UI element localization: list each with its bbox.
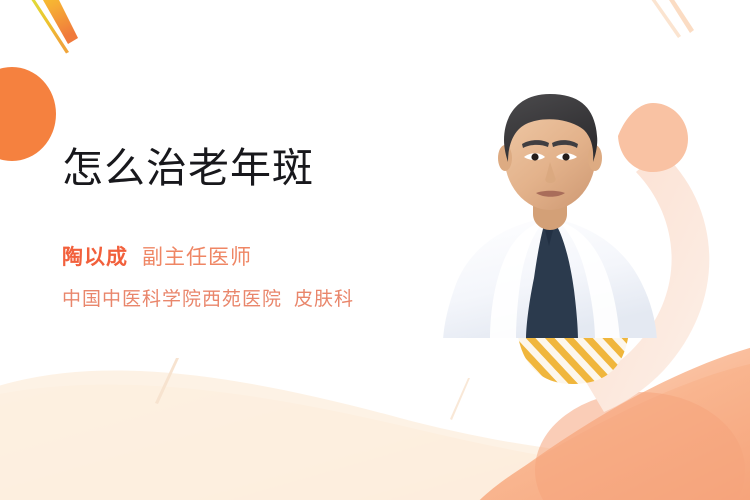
doctor-info-card: 怎么治老年斑 陶以成副主任医师 中国中医科学院西苑医院皮肤科 <box>0 0 750 500</box>
top-right-diagonal-stripe-a <box>664 0 694 33</box>
doctor-rank: 副主任医师 <box>142 246 252 269</box>
doctor-name: 陶以成 <box>62 246 128 269</box>
doctor-department: 皮肤科 <box>294 289 354 310</box>
page-title: 怎么治老年斑 <box>62 145 314 192</box>
doctor-pupil-left <box>531 153 538 160</box>
doctor-credential-line: 陶以成副主任医师 <box>62 246 252 269</box>
doctor-affiliation-line: 中国中医科学院西苑医院皮肤科 <box>62 290 354 311</box>
text-content: 怎么治老年斑 陶以成副主任医师 中国中医科学院西苑医院皮肤科 <box>0 0 430 500</box>
bottom-mid-thin-stripe <box>450 378 470 420</box>
doctor-hospital: 中国中医科学院西苑医院 <box>62 289 282 310</box>
doctor-portrait <box>430 78 670 338</box>
doctor-pupil-right <box>562 153 569 160</box>
